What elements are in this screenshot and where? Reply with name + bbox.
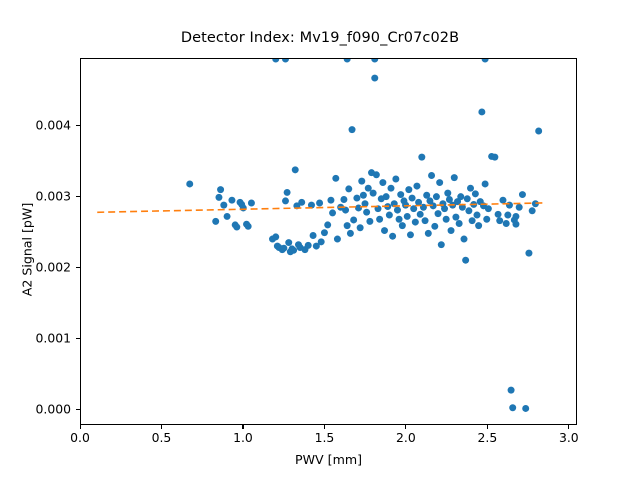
data-point	[504, 212, 511, 219]
data-point	[465, 207, 472, 214]
data-point	[394, 207, 401, 214]
data-point	[412, 219, 419, 226]
data-point	[392, 176, 399, 183]
data-point	[347, 230, 354, 237]
data-point	[397, 191, 404, 198]
x-tick-mark	[487, 425, 488, 429]
data-point	[233, 224, 240, 231]
data-point	[404, 213, 411, 220]
x-tick-label: 0.0	[70, 430, 90, 445]
x-tick-mark	[161, 425, 162, 429]
data-point	[535, 128, 542, 135]
x-tick-label: 1.5	[315, 430, 335, 445]
data-point	[272, 59, 279, 62]
data-point	[282, 59, 289, 62]
scatter-plot-svg	[81, 59, 576, 424]
data-point	[522, 405, 529, 412]
data-point	[386, 212, 393, 219]
data-point	[285, 239, 292, 246]
x-tick-mark	[405, 425, 406, 429]
data-point	[485, 205, 492, 212]
data-point	[462, 257, 469, 264]
data-point	[409, 195, 416, 202]
data-point	[340, 196, 347, 203]
data-point	[469, 217, 476, 224]
data-point	[282, 197, 289, 204]
data-point	[499, 197, 506, 204]
y-tick-mark	[76, 196, 80, 197]
data-point	[433, 193, 440, 200]
y-tick-label: 0.003	[0, 189, 71, 204]
page-title: Detector Index: Mv19_f090_Cr07c02B	[0, 30, 640, 46]
data-point	[436, 179, 443, 186]
y-tick-mark	[76, 267, 80, 268]
data-point	[491, 154, 498, 161]
data-point	[215, 194, 222, 201]
data-point	[417, 211, 424, 218]
data-point	[324, 221, 331, 228]
data-point	[318, 238, 325, 245]
data-point	[358, 178, 365, 185]
data-point	[428, 172, 435, 179]
data-point	[370, 190, 377, 197]
data-point	[388, 185, 395, 192]
data-point	[345, 185, 352, 192]
data-points-group	[186, 59, 542, 412]
y-tick-label: 0.004	[0, 118, 71, 133]
data-point	[327, 197, 334, 204]
data-point	[519, 191, 526, 198]
data-point	[425, 230, 432, 237]
data-point	[529, 207, 536, 214]
data-point	[332, 175, 339, 182]
data-point	[321, 229, 328, 236]
data-point	[525, 250, 532, 257]
data-point	[431, 223, 438, 230]
data-point	[396, 216, 403, 223]
data-point	[438, 241, 445, 248]
data-point	[482, 180, 489, 187]
data-point	[272, 233, 279, 240]
data-point	[371, 59, 378, 62]
data-point	[365, 185, 372, 192]
data-point	[464, 195, 471, 202]
y-tick-label: 0.000	[0, 402, 71, 417]
data-point	[310, 232, 317, 239]
y-tick-mark	[76, 338, 80, 339]
data-point	[298, 199, 305, 206]
data-point	[389, 233, 396, 240]
data-point	[363, 209, 370, 216]
data-point	[405, 186, 412, 193]
data-point	[212, 218, 219, 225]
data-point	[316, 200, 323, 207]
data-point	[512, 221, 519, 228]
data-point	[482, 59, 489, 62]
data-point	[357, 224, 364, 231]
y-tick-label: 0.002	[0, 260, 71, 275]
data-point	[245, 223, 252, 230]
data-point	[383, 193, 390, 200]
data-point	[344, 222, 351, 229]
y-tick-mark	[76, 125, 80, 126]
data-point	[353, 195, 360, 202]
y-axis-label: A2 Signal [pW]	[20, 140, 35, 360]
data-point	[457, 193, 464, 200]
data-point	[506, 202, 513, 209]
x-tick-label: 2.0	[396, 430, 416, 445]
data-point	[248, 200, 255, 207]
data-point	[217, 186, 224, 193]
data-point	[451, 174, 458, 181]
x-axis-label: PWV [mm]	[80, 452, 577, 467]
x-tick-label: 2.5	[478, 430, 498, 445]
data-point	[512, 213, 519, 220]
x-tick-label: 1.0	[233, 430, 253, 445]
data-point	[443, 216, 450, 223]
data-point	[371, 75, 378, 82]
data-point	[366, 218, 373, 225]
data-point	[373, 171, 380, 178]
x-tick-label: 0.5	[152, 430, 172, 445]
data-point	[452, 214, 459, 221]
data-point	[503, 220, 510, 227]
data-point	[441, 205, 448, 212]
data-point	[224, 213, 231, 220]
data-point	[467, 185, 474, 192]
data-point	[474, 212, 481, 219]
data-point	[509, 404, 516, 411]
data-point	[334, 236, 341, 243]
y-tick-mark	[76, 409, 80, 410]
data-point	[495, 211, 502, 218]
figure-canvas: Detector Index: Mv19_f090_Cr07c02B PWV […	[0, 0, 640, 480]
x-tick-mark	[242, 425, 243, 429]
data-point	[344, 59, 351, 62]
data-point	[329, 209, 336, 216]
data-point	[456, 220, 463, 227]
x-tick-label: 3.0	[559, 430, 579, 445]
data-point	[350, 216, 357, 223]
data-point	[292, 166, 299, 173]
data-point	[516, 204, 523, 211]
x-tick-mark	[80, 425, 81, 429]
data-point	[444, 190, 451, 197]
data-point	[496, 217, 503, 224]
data-point	[360, 192, 367, 199]
data-point	[461, 236, 468, 243]
data-point	[349, 126, 356, 133]
data-point	[448, 227, 455, 234]
data-point	[435, 210, 442, 217]
data-point	[478, 108, 485, 115]
data-point	[240, 204, 247, 211]
data-point	[280, 245, 287, 252]
y-tick-label: 0.001	[0, 331, 71, 346]
data-point	[381, 227, 388, 234]
data-point	[186, 180, 193, 187]
data-point	[376, 216, 383, 223]
data-point	[508, 387, 515, 394]
data-point	[284, 189, 291, 196]
data-point	[355, 204, 362, 211]
plot-area	[80, 58, 577, 425]
data-point	[399, 222, 406, 229]
data-point	[418, 154, 425, 161]
data-point	[472, 190, 479, 197]
data-point	[483, 216, 490, 223]
data-point	[407, 231, 414, 238]
x-tick-mark	[568, 425, 569, 429]
data-point	[475, 222, 482, 229]
data-point	[290, 247, 297, 254]
x-tick-mark	[324, 425, 325, 429]
data-point	[379, 179, 386, 186]
data-point	[413, 183, 420, 190]
data-point	[305, 242, 312, 249]
data-point	[220, 202, 227, 209]
data-point	[422, 217, 429, 224]
data-point	[228, 197, 235, 204]
